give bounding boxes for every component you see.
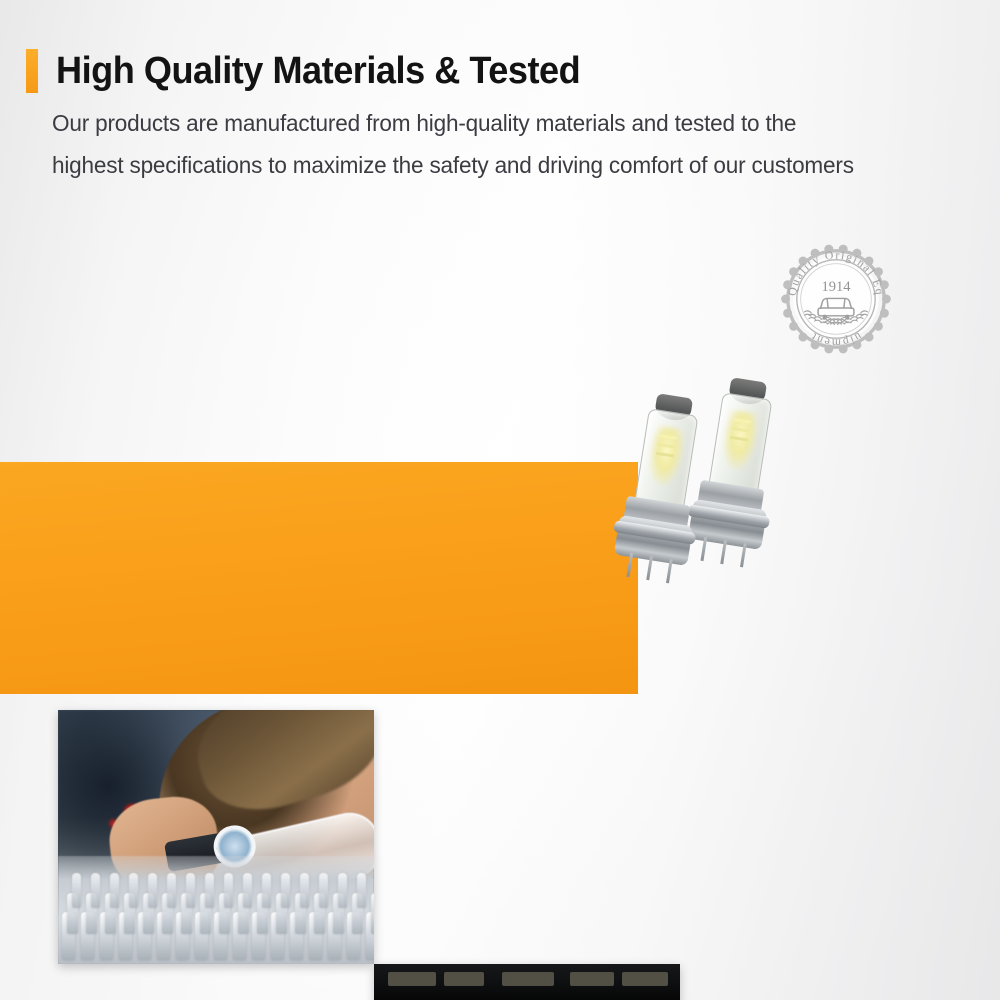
header-block: High Quality Materials & Tested Our prod… — [0, 0, 1000, 220]
product-feature-banner: High Quality Materials & Tested Our prod… — [0, 0, 1000, 1000]
seal-year: 1914 — [821, 279, 851, 295]
page-title: High Quality Materials & Tested — [56, 52, 580, 90]
automated-assembly-machine-photo — [374, 964, 680, 1000]
subtitle-line-2: highest specifications to maximize the s… — [52, 152, 854, 179]
page-title-row: High Quality Materials & Tested — [26, 49, 608, 93]
subtitle-line-1: Our products are manufactured from high-… — [52, 110, 796, 137]
bulb-component-rows — [58, 856, 374, 964]
quality-inspection-photo — [58, 710, 374, 964]
orange-accent-block-top — [0, 462, 638, 694]
halogen-bulb-pair — [624, 385, 804, 570]
quality-original-equipment-seal: Quality Original Eq uipment 1914 — [780, 243, 892, 355]
title-accent-tick — [26, 49, 38, 93]
machine-gantry — [374, 964, 680, 1000]
